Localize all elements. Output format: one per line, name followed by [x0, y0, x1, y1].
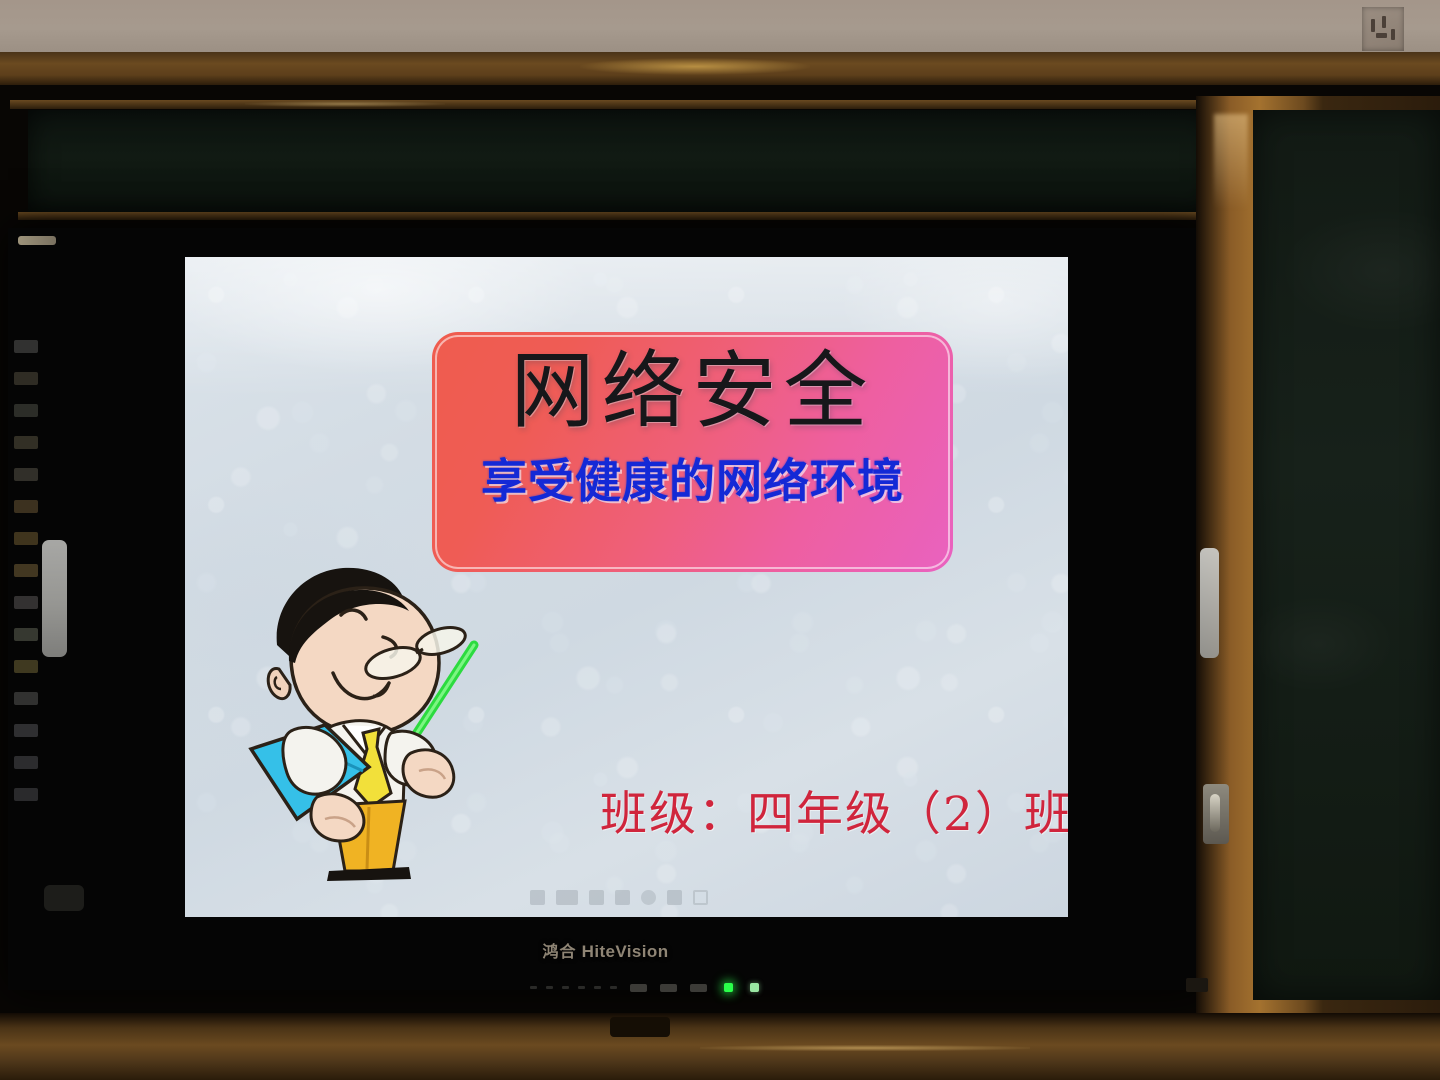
- bezel-button-power[interactable]: [14, 340, 38, 353]
- shoe-shadow: [327, 867, 411, 881]
- board-lock-notch: [1186, 978, 1208, 992]
- bottom-key-2[interactable]: [660, 984, 677, 992]
- wooden-trim-beam: [0, 52, 1440, 85]
- bezel-sticker: [42, 540, 67, 657]
- trim-highlight: [580, 58, 810, 75]
- interactive-flat-panel[interactable]: 网络安全 享受健康的网络环境: [8, 228, 1203, 990]
- bezel-mark: [562, 986, 569, 989]
- brand-name-cn: 鸿合: [543, 944, 577, 961]
- bezel-button-usb[interactable]: [14, 756, 38, 769]
- bezel-mark: [610, 986, 617, 989]
- bezel-button-settings[interactable]: [14, 788, 38, 801]
- media-icon[interactable]: [615, 890, 630, 905]
- bezel-label-strip: [18, 236, 56, 245]
- board-lock[interactable]: [1203, 784, 1229, 844]
- sill-bracket: [610, 1017, 670, 1037]
- display-brand: 鸿合 HiteVision: [8, 938, 1203, 962]
- chalkboard-surface[interactable]: [1253, 110, 1440, 1000]
- socket-hole: [1371, 19, 1375, 32]
- classroom-scene: 网络安全 享受健康的网络环境: [0, 0, 1440, 1080]
- bottom-control-row[interactable]: [530, 983, 759, 992]
- trim-divider: [18, 212, 1218, 220]
- slide-title: 网络安全: [510, 349, 874, 435]
- bezel-mark: [530, 986, 537, 989]
- slide-class-line: 班级：四年级（2）班: [600, 775, 1068, 844]
- cartoon-teacher-with-pointer: [233, 557, 503, 887]
- folder-icon[interactable]: [556, 890, 578, 905]
- bezel-mark: [546, 986, 553, 989]
- socket-hole: [1391, 29, 1395, 40]
- bezel-button-freeze[interactable]: [14, 628, 38, 641]
- bezel-button-down[interactable]: [14, 468, 38, 481]
- bottom-key-3[interactable]: [690, 984, 707, 992]
- bezel-button-extra[interactable]: [44, 885, 84, 911]
- bezel-button-up[interactable]: [14, 436, 38, 449]
- slide-taskbar[interactable]: [530, 883, 780, 911]
- rear-chalkboard-panel: [28, 110, 1213, 215]
- start-icon[interactable]: [530, 890, 545, 905]
- bezel-button-volume-down[interactable]: [14, 532, 38, 545]
- bottom-key-1[interactable]: [630, 984, 647, 992]
- bezel-mark: [594, 986, 601, 989]
- bezel-button-home[interactable]: [14, 564, 38, 577]
- bezel-mark: [578, 986, 585, 989]
- slide-subtitle: 享受健康的网络环境: [481, 445, 904, 511]
- ppt-icon[interactable]: [641, 890, 656, 905]
- presentation-slide[interactable]: 网络安全 享受健康的网络环境: [185, 257, 1068, 917]
- bezel-button-blank[interactable]: [14, 660, 38, 673]
- bezel-button-volume-up[interactable]: [14, 500, 38, 513]
- title-card-inner: 网络安全 享受健康的网络环境: [435, 335, 950, 569]
- bezel-button-pc[interactable]: [14, 692, 38, 705]
- brand-name-en: HiteVision: [582, 942, 669, 961]
- app-icon[interactable]: [667, 890, 682, 905]
- board-slide-handle[interactable]: [1200, 548, 1219, 658]
- socket-hole: [1382, 16, 1386, 28]
- standby-led: [750, 983, 759, 992]
- board-lock-pin: [1210, 794, 1220, 832]
- right-hand: [403, 750, 454, 797]
- ear: [268, 669, 290, 699]
- classroom-wall: [0, 0, 1440, 52]
- browser-icon[interactable]: [589, 890, 604, 905]
- title-card: 网络安全 享受健康的网络环境: [432, 332, 953, 572]
- bezel-button-column[interactable]: [14, 340, 42, 801]
- power-led: [724, 983, 733, 992]
- frame-highlight: [1214, 114, 1248, 209]
- window-icon[interactable]: [693, 890, 708, 905]
- trim-highlight: [245, 101, 445, 107]
- wall-socket[interactable]: [1362, 7, 1404, 51]
- bezel-button-menu[interactable]: [14, 404, 38, 417]
- bezel-button-back[interactable]: [14, 596, 38, 609]
- trim-divider: [10, 100, 1215, 109]
- wooden-sill: [0, 1013, 1440, 1080]
- bezel-button-input[interactable]: [14, 372, 38, 385]
- socket-hole: [1376, 33, 1387, 38]
- sill-highlight: [700, 1045, 1030, 1051]
- bezel-button-hdmi[interactable]: [14, 724, 38, 737]
